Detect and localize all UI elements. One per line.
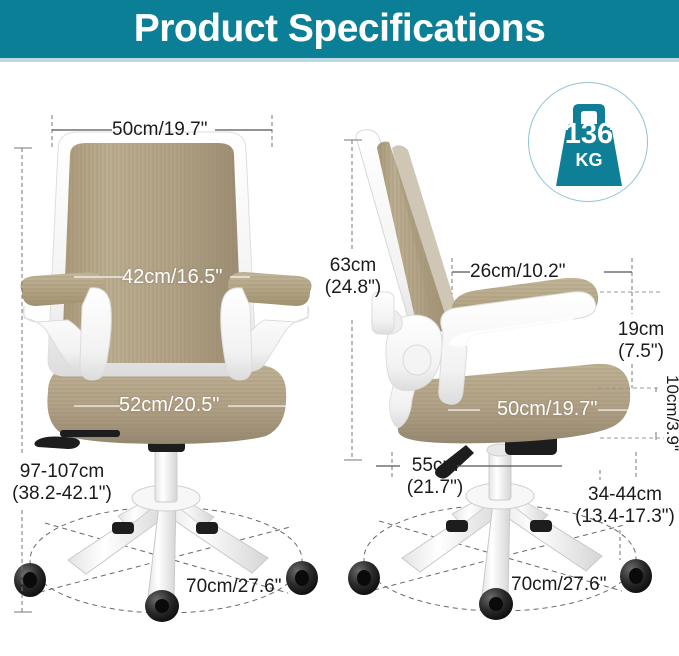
backrest-mesh <box>62 143 242 363</box>
label-armrest-length: 26cm/10.2" <box>470 261 565 283</box>
label-seat-depth: 50cm/19.7" <box>497 398 598 420</box>
weight-capacity-badge: 136 KG <box>528 82 650 204</box>
mechanism-housing <box>505 425 557 455</box>
label-seat-height-line2: (13.4-17.3") <box>569 506 679 528</box>
armrest-right <box>221 272 312 380</box>
label-backrest-height-line1: 63cm <box>318 255 388 277</box>
label-seat-width: 52cm/20.5" <box>119 394 220 416</box>
casters-side <box>348 520 652 620</box>
cylinder-collar <box>148 432 185 452</box>
label-base-diameter-side: 70cm/27.6" <box>511 574 606 596</box>
label-overall-height-line2: (38.2-42.1") <box>0 483 124 505</box>
label-backrest-height-line2: (24.8") <box>318 277 388 299</box>
label-overall-depth: 55cm (21.7") <box>388 455 482 499</box>
armrest-left <box>21 272 112 380</box>
tilt-pivot-cap <box>403 345 431 375</box>
label-backrest-height: 63cm (24.8") <box>318 255 388 299</box>
label-overall-height: 97-107cm (38.2-42.1") <box>0 461 124 505</box>
armrest-side <box>439 278 598 404</box>
label-back-width: 50cm/19.7" <box>112 119 207 141</box>
label-armrest-height-line1: 19cm <box>608 319 674 341</box>
page-title: Product Specifications <box>0 4 679 54</box>
back-seat-connector <box>386 315 442 391</box>
casters <box>14 522 318 622</box>
header-underline <box>0 58 679 62</box>
weight-unit: KG <box>528 150 650 170</box>
label-armrest-height-line2: (7.5") <box>608 341 674 363</box>
tilt-lever <box>34 437 80 450</box>
label-armrest-height: 19cm (7.5") <box>608 319 674 363</box>
label-overall-height-line1: 97-107cm <box>0 461 124 483</box>
label-base-diameter-front: 70cm/27.6" <box>186 576 281 598</box>
product-specification-page: Product Specifications <box>0 0 679 656</box>
label-seat-height: 34-44cm (13.4-17.3") <box>569 484 679 528</box>
label-seat-height-line1: 34-44cm <box>569 484 679 506</box>
backrest-side <box>356 130 457 343</box>
label-seat-thickness: 10cm/3.9" <box>661 373 679 453</box>
front-view-chair <box>14 115 318 622</box>
weight-value: 136 <box>528 119 650 149</box>
gas-cylinder <box>155 450 177 502</box>
label-overall-depth-line1: 55cm <box>388 455 482 477</box>
label-overall-depth-line2: (21.7") <box>388 477 482 499</box>
label-backrest-width: 42cm/16.5" <box>122 266 223 288</box>
backrest-frame <box>48 132 256 376</box>
